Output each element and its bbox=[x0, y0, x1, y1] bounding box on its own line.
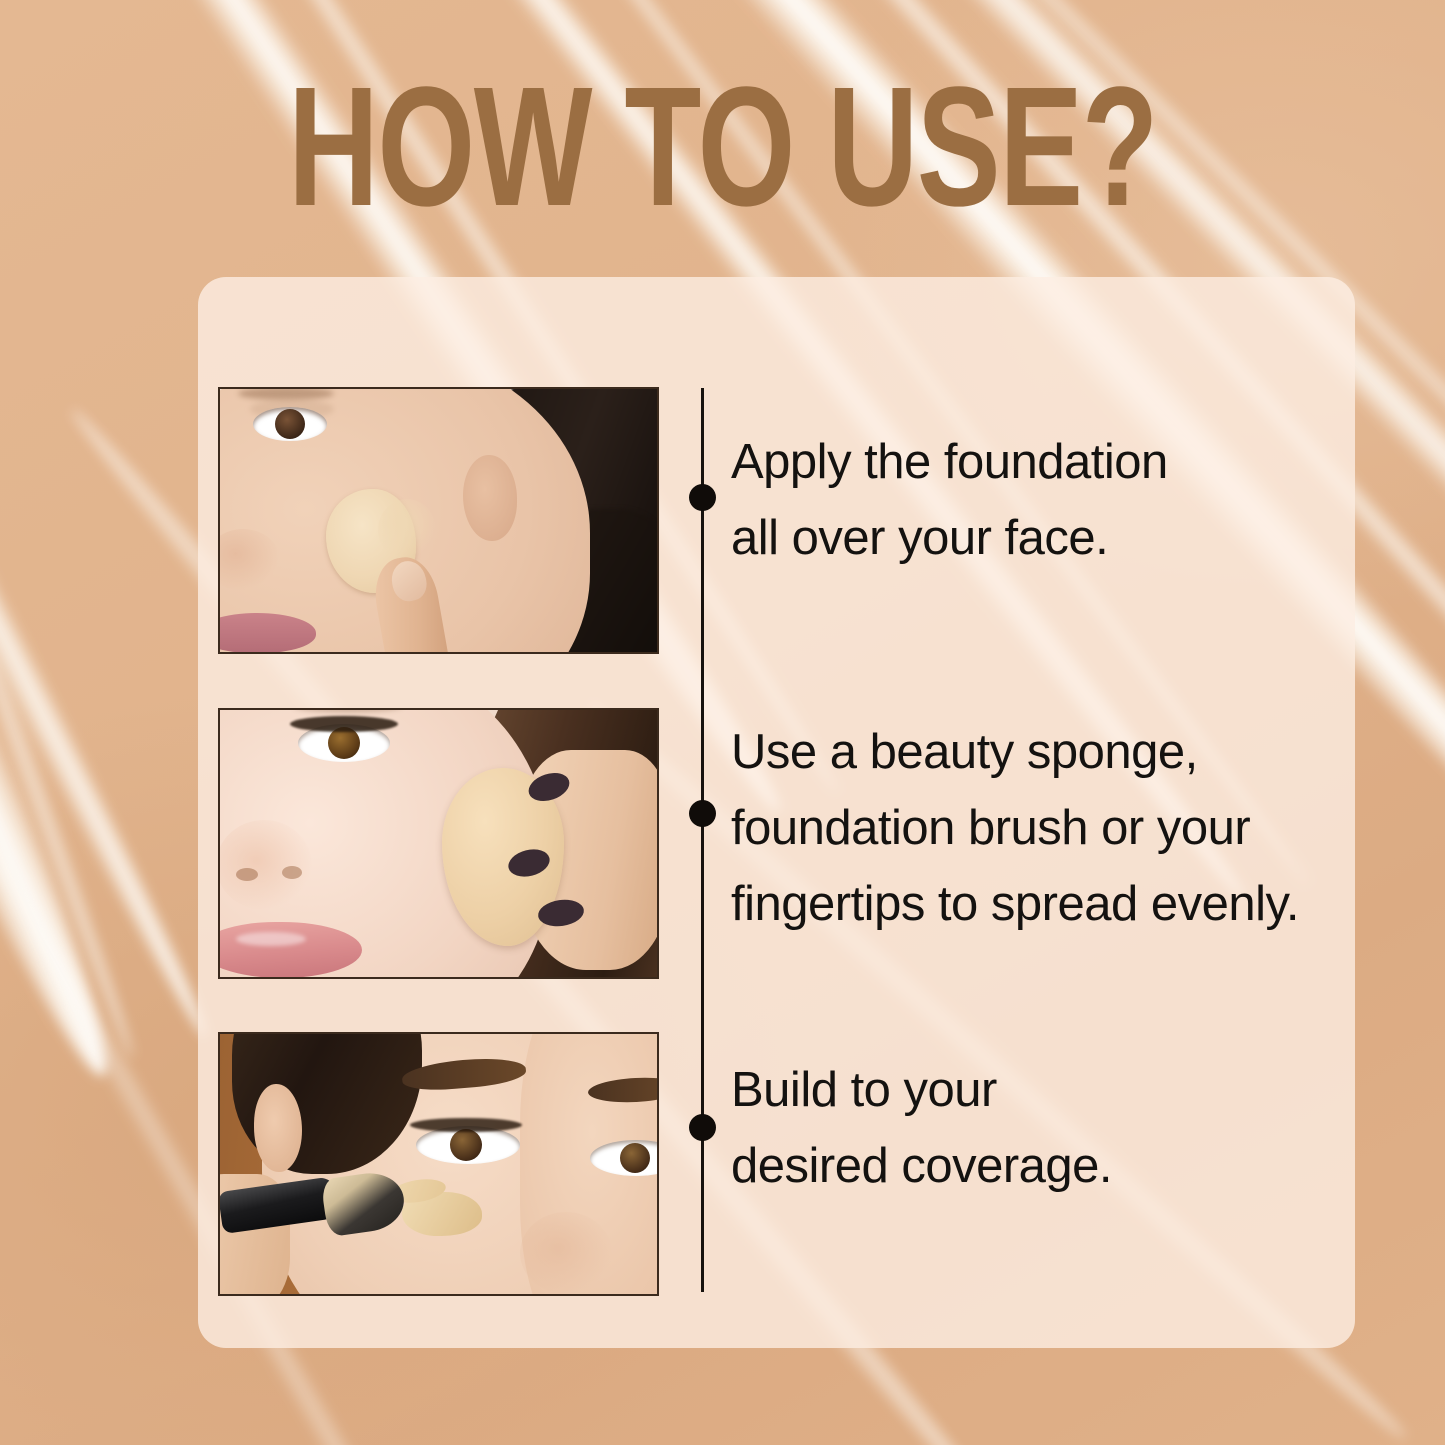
step-2-text: Use a beauty sponge, foundation brush or… bbox=[731, 714, 1371, 942]
timeline-dot-step-1 bbox=[689, 484, 716, 511]
timeline-line bbox=[701, 388, 704, 1292]
step-1-photo bbox=[218, 387, 659, 654]
page-title: HOW TO USE? bbox=[188, 72, 1257, 222]
step-1-text: Apply the foundation all over your face. bbox=[731, 424, 1331, 576]
step-3-text: Build to your desired coverage. bbox=[731, 1052, 1291, 1204]
infographic-canvas: HOW TO USE? bbox=[0, 0, 1445, 1445]
timeline-dot-step-2 bbox=[689, 800, 716, 827]
step-3-photo bbox=[218, 1032, 659, 1296]
step-2-photo bbox=[218, 708, 659, 979]
timeline-dot-step-3 bbox=[689, 1114, 716, 1141]
